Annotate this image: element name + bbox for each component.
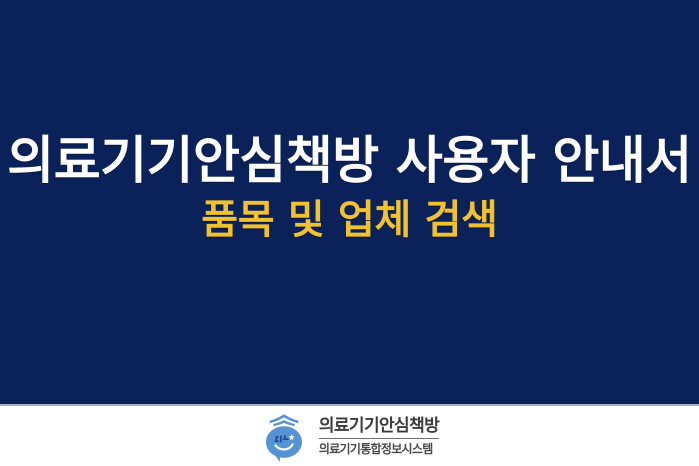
cover-slide: 의료기기안심책방 사용자 안내서 품목 및 업체 검색 (0, 0, 699, 465)
page-title: 의료기기안심책방 사용자 안내서 (0, 132, 699, 192)
hero-banner: 의료기기안심책방 사용자 안내서 품목 및 업체 검색 (0, 0, 699, 404)
page-subtitle: 품목 및 업체 검색 (0, 196, 699, 244)
brand-lockup: 의료기기안심책방 의료기기통합정보시스템 (260, 412, 439, 462)
brand-tagline: 의료기기통합정보시스템 (319, 439, 439, 455)
brand-name: 의료기기안심책방 (319, 418, 439, 438)
footer: 의료기기안심책방 의료기기통합정보시스템 (0, 406, 699, 465)
brand-text: 의료기기안심책방 의료기기통합정보시스템 (319, 418, 439, 455)
hero-text-block: 의료기기안심책방 사용자 안내서 품목 및 업체 검색 (0, 132, 699, 244)
speech-bubble-face-logo-icon (260, 412, 308, 462)
